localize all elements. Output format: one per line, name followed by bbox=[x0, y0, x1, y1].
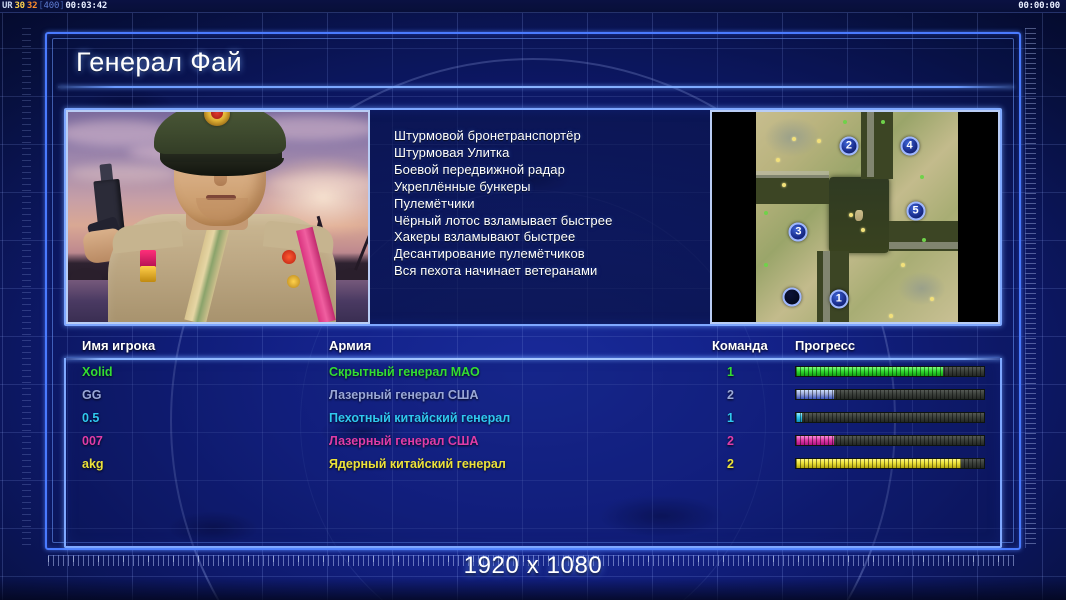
minimap-road bbox=[889, 242, 958, 249]
general-info-panel: Штурмовой бронетранспортёр Штурмовая Ули… bbox=[64, 108, 1002, 326]
debug-stats-group: UR3032[400]00:03:42 bbox=[1, 0, 108, 13]
minimap-unit-icon bbox=[920, 175, 924, 179]
medal-icon bbox=[140, 266, 156, 282]
minimap-resource-icon bbox=[792, 137, 796, 141]
ability-item: Пулемётчики bbox=[394, 196, 700, 213]
player-army: Пехотный китайский генерал bbox=[329, 411, 510, 425]
title-divider bbox=[58, 86, 1014, 88]
table-row[interactable]: 0.5Пехотный китайский генерал1 bbox=[64, 406, 1002, 429]
column-header-player-name: Имя игрока bbox=[82, 338, 155, 353]
minimap-road bbox=[823, 251, 830, 322]
player-team: 2 bbox=[727, 457, 734, 471]
player-progress-fill bbox=[796, 413, 802, 422]
player-team: 1 bbox=[727, 411, 734, 425]
player-progress-bar bbox=[795, 458, 985, 469]
player-team: 2 bbox=[727, 434, 734, 448]
player-name: GG bbox=[82, 388, 101, 402]
player-progress-fill bbox=[796, 390, 834, 399]
ability-item: Укреплённые бункеры bbox=[394, 179, 700, 196]
fps-label: UR bbox=[1, 1, 13, 11]
ability-item: Боевой передвижной радар bbox=[394, 162, 700, 179]
ability-item: Штурмовой бронетранспортёр bbox=[394, 128, 700, 145]
minimap-resource-icon bbox=[889, 314, 893, 318]
title-bar: Генерал Фай bbox=[58, 38, 1014, 86]
ability-item: Вся пехота начинает ветеранами bbox=[394, 263, 700, 280]
player-name: 0.5 bbox=[82, 411, 99, 425]
minimap-resource-icon bbox=[930, 297, 934, 301]
page-title: Генерал Фай bbox=[76, 47, 242, 78]
player-progress-fill bbox=[796, 436, 834, 445]
minimap-forest-center bbox=[829, 177, 890, 253]
fps-value-average: 32 bbox=[26, 1, 38, 11]
minimap-start-position-4[interactable]: 4 bbox=[900, 136, 919, 155]
ability-item: Десантирование пулемётчиков bbox=[394, 246, 700, 263]
ability-item: Чёрный лотос взламывает быстрее bbox=[394, 213, 700, 230]
session-timer: 00:03:42 bbox=[64, 1, 108, 11]
medal-icon bbox=[282, 250, 296, 264]
ability-item: Хакеры взламывают быстрее bbox=[394, 229, 700, 246]
player-name: 007 bbox=[82, 434, 103, 448]
player-list: XolidСкрытный генерал МАО1GGЛазерный ген… bbox=[64, 360, 1002, 475]
minimap-terrain-band bbox=[861, 112, 893, 179]
player-army: Скрытный генерал МАО bbox=[329, 365, 480, 379]
player-army: Лазерный генерал США bbox=[329, 434, 478, 448]
minimap-resource-icon bbox=[817, 139, 821, 143]
player-progress-bar bbox=[795, 435, 985, 446]
minimap-unit-icon bbox=[843, 120, 847, 124]
player-progress-fill bbox=[796, 367, 943, 376]
game-lobby-screen: UR3032[400]00:03:42 00:00:00 Генерал Фай bbox=[0, 0, 1066, 600]
minimap-terrain-band bbox=[756, 175, 829, 204]
minimap-resource-icon bbox=[849, 213, 853, 217]
game-clock: 00:00:00 bbox=[1018, 0, 1060, 13]
minimap-unit-icon bbox=[922, 238, 926, 242]
ruler-left bbox=[22, 28, 31, 548]
column-header-team: Команда bbox=[712, 338, 768, 353]
table-row[interactable]: akgЯдерный китайский генерал2 bbox=[64, 452, 1002, 475]
minimap-start-position-2[interactable]: 2 bbox=[839, 136, 858, 155]
player-progress-bar bbox=[795, 366, 985, 377]
player-army: Лазерный генерал США bbox=[329, 388, 478, 402]
column-header-army: Армия bbox=[329, 338, 371, 353]
minimap-start-position-5[interactable]: 5 bbox=[906, 201, 925, 220]
minimap-image[interactable]: 24531 bbox=[756, 112, 958, 322]
debug-status-bar: UR3032[400]00:03:42 00:00:00 bbox=[0, 0, 1066, 13]
ability-item: Штурмовая Улитка bbox=[394, 145, 700, 162]
player-progress-bar bbox=[795, 412, 985, 423]
minimap-frame[interactable]: 24531 bbox=[710, 110, 1000, 324]
minimap-unit-icon bbox=[764, 263, 768, 267]
player-progress-bar bbox=[795, 389, 985, 400]
player-team: 1 bbox=[727, 365, 734, 379]
player-name: Xolid bbox=[82, 365, 113, 379]
table-row[interactable]: GGЛазерный генерал США2 bbox=[64, 383, 1002, 406]
minimap-road bbox=[867, 112, 874, 177]
player-army: Ядерный китайский генерал bbox=[329, 457, 506, 471]
player-name: akg bbox=[82, 457, 104, 471]
player-progress-fill bbox=[796, 459, 961, 468]
minimap-resource-icon bbox=[776, 158, 780, 162]
minimap-start-position-3[interactable]: 3 bbox=[789, 222, 808, 241]
table-row[interactable]: 007Лазерный генерал США2 bbox=[64, 429, 1002, 452]
minimap-resource-icon bbox=[901, 263, 905, 267]
fps-value-current: 30 bbox=[13, 1, 25, 11]
general-portrait-image bbox=[68, 112, 368, 322]
resolution-label: 1920 x 1080 bbox=[0, 552, 1066, 580]
medal-icon bbox=[287, 275, 300, 288]
memory-value: 400 bbox=[44, 1, 60, 11]
cloud-shape bbox=[68, 164, 178, 182]
minimap-center-island bbox=[855, 210, 862, 221]
ruler-right bbox=[1025, 28, 1036, 548]
general-portrait-frame bbox=[66, 110, 370, 324]
minimap-resource-icon bbox=[861, 228, 865, 232]
minimap-start-position-empty[interactable] bbox=[783, 287, 802, 306]
minimap-road bbox=[756, 171, 829, 178]
general-abilities-list: Штурмовой бронетранспортёр Штурмовая Ули… bbox=[370, 110, 710, 324]
table-row[interactable]: XolidСкрытный генерал МАО1 bbox=[64, 360, 1002, 383]
bottom-vignette bbox=[0, 578, 1066, 600]
player-table-header: Имя игрока Армия Команда Прогресс bbox=[64, 338, 1002, 358]
player-team: 2 bbox=[727, 388, 734, 402]
column-header-progress: Прогресс bbox=[795, 338, 855, 353]
minimap-terrain-band bbox=[817, 251, 849, 322]
minimap-unit-icon bbox=[764, 211, 768, 215]
minimap-start-position-1[interactable]: 1 bbox=[829, 289, 848, 308]
